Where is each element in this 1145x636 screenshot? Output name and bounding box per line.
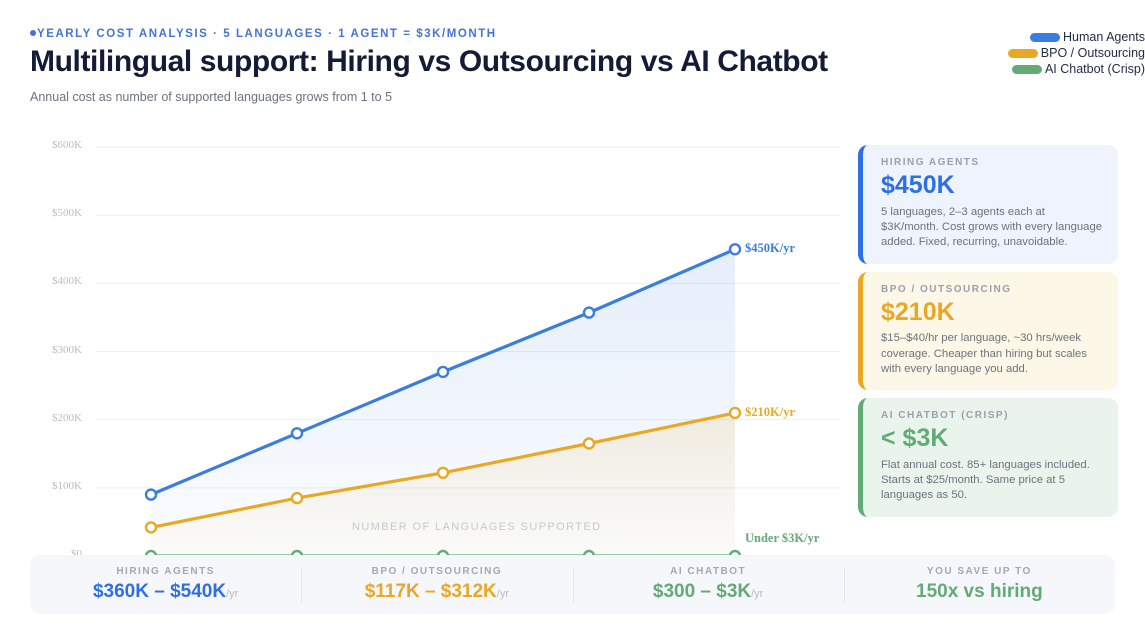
data-point-marker[interactable] bbox=[438, 468, 448, 478]
card-value: $210K bbox=[881, 298, 1104, 327]
summary-value: $360K – $540K/yr bbox=[93, 581, 238, 603]
page-title: Multilingual support: Hiring vs Outsourc… bbox=[30, 45, 828, 79]
card-value: $450K bbox=[881, 171, 1104, 200]
legend-item-bpo[interactable]: BPO / Outsourcing bbox=[1008, 46, 1145, 60]
data-point-marker[interactable] bbox=[730, 244, 740, 254]
series-endpoint-label: $450K/yr bbox=[745, 241, 795, 256]
legend-swatch-chatbot bbox=[1012, 65, 1042, 74]
chart-x-axis-label: NUMBER OF LANGUAGES SUPPORTED bbox=[352, 521, 601, 533]
summary-bar: HIRING AGENTS $360K – $540K/yr BPO / OUT… bbox=[30, 555, 1115, 614]
data-point-marker[interactable] bbox=[584, 439, 594, 449]
insight-card-bpo-outsourcing[interactable]: BPO / OUTSOURCING $210K $15–$40/hr per l… bbox=[858, 272, 1118, 391]
insight-card-hiring-agents[interactable]: HIRING AGENTS $450K 5 languages, 2–3 age… bbox=[858, 145, 1118, 264]
eyebrow-kicker: YEARLY COST ANALYSIS · 5 LANGUAGES · 1 A… bbox=[30, 28, 497, 40]
legend-swatch-bpo bbox=[1008, 49, 1038, 58]
summary-kicker: AI CHATBOT bbox=[670, 566, 746, 577]
y-axis-tick-label: $500K bbox=[22, 207, 82, 219]
summary-cell-hiring-agents: HIRING AGENTS $360K – $540K/yr bbox=[30, 555, 301, 614]
summary-kicker: BPO / OUTSOURCING bbox=[372, 566, 503, 577]
insight-card-ai-chatbot[interactable]: AI CHATBOT (CRISP) < $3K Flat annual cos… bbox=[858, 398, 1118, 517]
card-value: < $3K bbox=[881, 424, 1104, 453]
data-point-marker[interactable] bbox=[584, 308, 594, 318]
summary-cell-savings: YOU SAVE UP TO 150x vs hiring bbox=[844, 555, 1115, 614]
summary-value: 150x vs hiring bbox=[916, 581, 1043, 603]
summary-value-text: $300 – $3K bbox=[653, 581, 751, 602]
chart-legend: Human Agents BPO / Outsourcing AI Chatbo… bbox=[1008, 30, 1145, 76]
legend-label-bpo: BPO / Outsourcing bbox=[1041, 46, 1145, 60]
summary-value-unit: /yr bbox=[751, 588, 763, 600]
data-point-marker[interactable] bbox=[146, 490, 156, 500]
legend-label-human-agents: Human Agents bbox=[1063, 30, 1145, 44]
legend-label-chatbot: AI Chatbot (Crisp) bbox=[1045, 62, 1145, 76]
card-kicker: HIRING AGENTS bbox=[881, 157, 1104, 168]
card-description: 5 languages, 2–3 agents each at $3K/mont… bbox=[881, 205, 1104, 251]
y-axis-tick-label: $200K bbox=[22, 412, 82, 424]
summary-value-text: 150x vs hiring bbox=[916, 581, 1043, 602]
data-point-marker[interactable] bbox=[146, 522, 156, 532]
summary-cell-bpo-outsourcing: BPO / OUTSOURCING $117K – $312K/yr bbox=[301, 555, 572, 614]
legend-item-chatbot[interactable]: AI Chatbot (Crisp) bbox=[1012, 62, 1145, 76]
bullet-dot-icon bbox=[30, 30, 36, 36]
insight-cards: HIRING AGENTS $450K 5 languages, 2–3 age… bbox=[858, 145, 1118, 525]
data-point-marker[interactable] bbox=[292, 493, 302, 503]
summary-value: $117K – $312K/yr bbox=[365, 581, 509, 603]
y-axis-tick-label: $600K bbox=[22, 139, 82, 151]
summary-value-unit: /yr bbox=[226, 588, 238, 600]
summary-value-text: $117K – $312K bbox=[365, 581, 497, 602]
summary-kicker: YOU SAVE UP TO bbox=[927, 566, 1032, 577]
y-axis-tick-label: $300K bbox=[22, 344, 82, 356]
page-subtitle: Annual cost as number of supported langu… bbox=[30, 90, 392, 104]
card-kicker: BPO / OUTSOURCING bbox=[881, 284, 1104, 295]
card-description: $15–$40/hr per language, ~30 hrs/week co… bbox=[881, 331, 1104, 377]
y-axis-tick-label: $100K bbox=[22, 480, 82, 492]
summary-value: $300 – $3K/yr bbox=[653, 581, 763, 603]
eyebrow-text: YEARLY COST ANALYSIS · 5 LANGUAGES · 1 A… bbox=[37, 28, 497, 40]
infographic-page: YEARLY COST ANALYSIS · 5 LANGUAGES · 1 A… bbox=[0, 0, 1145, 636]
summary-value-text: $360K – $540K bbox=[93, 581, 226, 602]
summary-kicker: HIRING AGENTS bbox=[116, 566, 215, 577]
data-point-marker[interactable] bbox=[438, 367, 448, 377]
card-kicker: AI CHATBOT (CRISP) bbox=[881, 410, 1104, 421]
series-endpoint-label: Under $3K/yr bbox=[745, 531, 819, 546]
summary-cell-ai-chatbot: AI CHATBOT $300 – $3K/yr bbox=[573, 555, 844, 614]
series-endpoint-label: $210K/yr bbox=[745, 405, 795, 420]
summary-value-unit: /yr bbox=[497, 588, 509, 600]
y-axis-tick-label: $400K bbox=[22, 275, 82, 287]
card-description: Flat annual cost. 85+ languages included… bbox=[881, 458, 1104, 504]
data-point-marker[interactable] bbox=[730, 408, 740, 418]
data-point-marker[interactable] bbox=[292, 428, 302, 438]
legend-item-human-agents[interactable]: Human Agents bbox=[1030, 30, 1145, 44]
legend-swatch-human-agents bbox=[1030, 33, 1060, 42]
